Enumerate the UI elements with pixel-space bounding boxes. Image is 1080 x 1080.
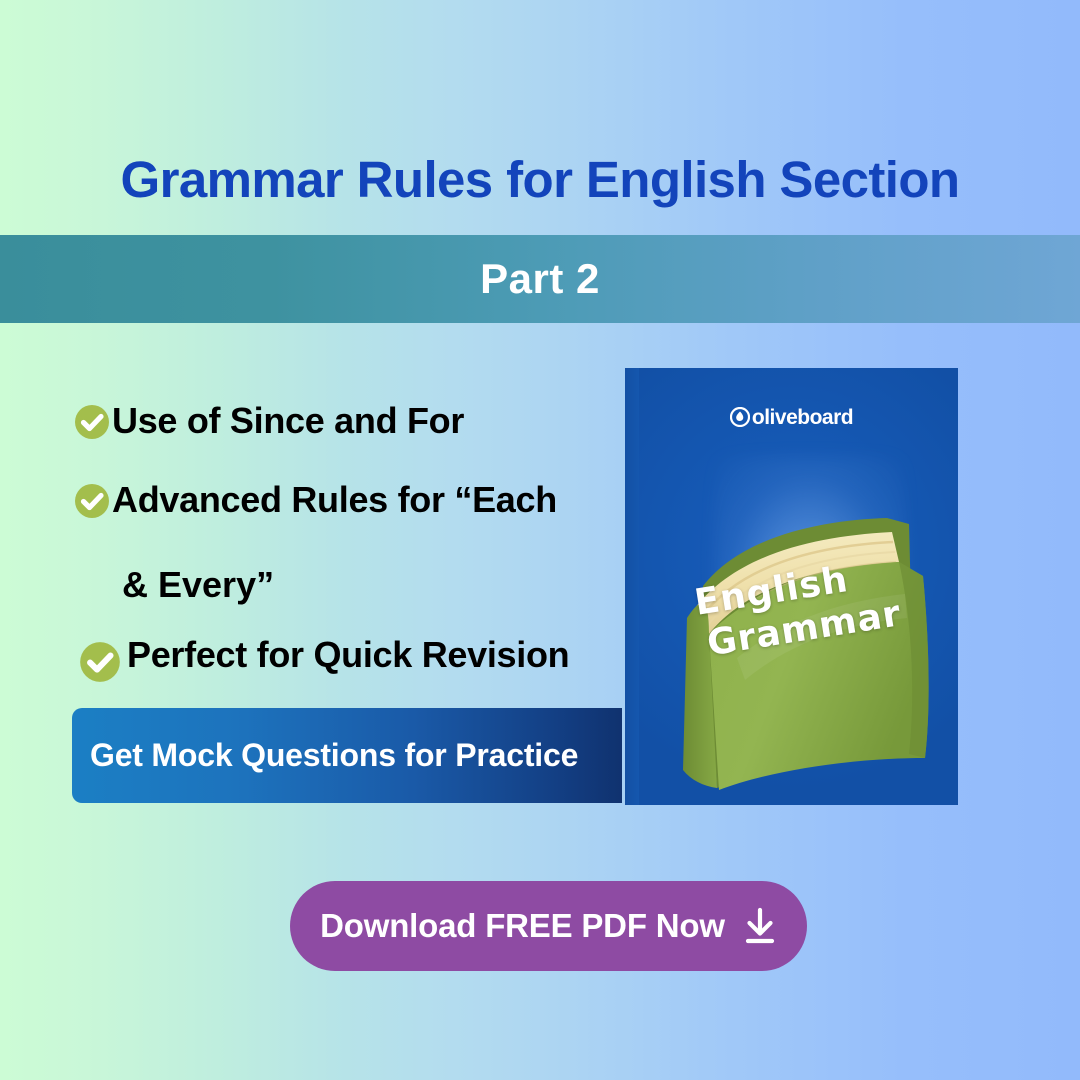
part-banner: Part 2	[0, 235, 1080, 323]
oliveboard-droplet-icon	[730, 407, 750, 427]
oliveboard-logo: oliveboard	[625, 406, 958, 430]
feature-list: Use of Since and For Advanced Rules for …	[74, 398, 634, 711]
download-button-label: Download FREE PDF Now	[320, 907, 725, 945]
get-mock-questions-button[interactable]: Get Mock Questions for Practice	[72, 708, 622, 803]
list-item-label: Advanced Rules for “Each	[112, 477, 557, 522]
check-circle-icon	[74, 404, 110, 440]
download-free-pdf-button[interactable]: Download FREE PDF Now	[290, 881, 807, 971]
list-item-label: Use of Since and For	[112, 398, 464, 443]
panel-edge	[625, 368, 639, 805]
download-arrow-icon	[743, 907, 777, 945]
part-banner-label: Part 2	[480, 255, 600, 303]
book-image-panel: oliveboard	[625, 368, 958, 805]
list-item-label-continuation: & Every”	[122, 556, 634, 618]
check-circle-icon	[79, 641, 121, 683]
promo-poster: Grammar Rules for English Section Part 2…	[0, 0, 1080, 1080]
get-mock-questions-label: Get Mock Questions for Practice	[90, 737, 578, 774]
page-title: Grammar Rules for English Section	[0, 152, 1080, 208]
list-item: Perfect for Quick Revision	[74, 632, 634, 694]
list-item: Use of Since and For	[74, 398, 634, 460]
list-item: Advanced Rules for “Each	[74, 477, 634, 539]
check-circle-icon	[74, 483, 110, 519]
oliveboard-wordmark: oliveboard	[752, 406, 853, 429]
list-item-label: Perfect for Quick Revision	[127, 632, 569, 677]
